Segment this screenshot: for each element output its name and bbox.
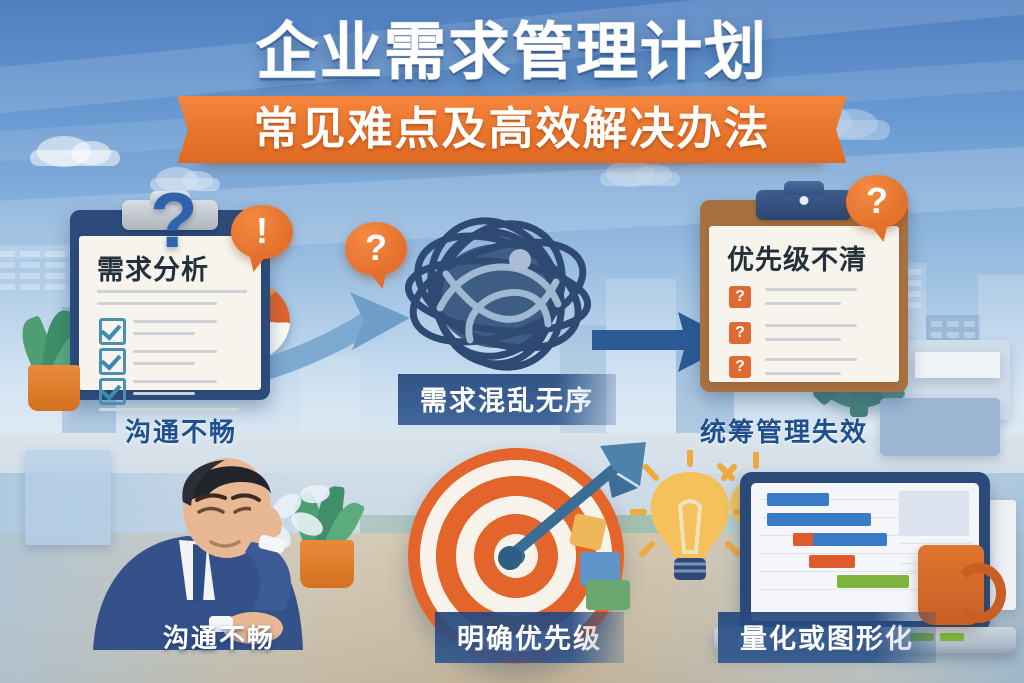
gantt-bar-orange (809, 555, 855, 568)
gantt-bar-blue (767, 513, 871, 526)
gantt-bar-blue (813, 533, 887, 546)
checkbox-icon[interactable] (99, 348, 126, 375)
caption-clarify-priority: 明确优先级 (435, 612, 624, 663)
potted-plant-icon (300, 540, 354, 588)
printer-icon (880, 398, 1000, 456)
caption-tangled-requirements: 需求混乱无序 (398, 374, 616, 425)
exclamation-bubble-icon: ! (231, 205, 293, 259)
caption-visual-tooling: 量化或图形化 (718, 612, 936, 663)
gantt-bar-green (837, 575, 909, 588)
tangled-threads-icon (398, 212, 598, 372)
page-subtitle: 常见难点及高效解决办法 (253, 105, 770, 152)
poster-header: 企业需求管理计划 常见难点及高效解决办法 (0, 22, 1024, 163)
clipboard-clamp-icon (756, 190, 852, 220)
infographic-poster: 企业需求管理计划 常见难点及高效解决办法 ? 需求分析 (0, 0, 1024, 683)
caption-communication-bottom: 沟通不畅 (163, 618, 275, 655)
question-bubble-icon: ? (345, 222, 407, 276)
question-box-icon[interactable]: ? (729, 356, 751, 378)
question-bubble-icon: ? (846, 175, 908, 229)
clipboard-paper: 优先级不清 ? ? ? (709, 226, 899, 382)
question-mark-large-icon: ? (150, 175, 198, 266)
question-box-icon[interactable]: ? (729, 322, 751, 344)
filing-cabinet-drawer (915, 352, 1000, 378)
gantt-bar-blue (767, 493, 829, 506)
clipboard-title: 优先级不清 (727, 238, 867, 277)
filing-cabinet (905, 340, 1010, 420)
question-box-icon[interactable]: ? (729, 286, 751, 308)
checkbox-icon[interactable] (99, 318, 126, 345)
caption-management-failure: 统筹管理失效 (700, 412, 868, 449)
arrow-dart-icon (480, 440, 660, 580)
potted-plant-icon (28, 365, 80, 411)
checkbox-icon[interactable] (99, 378, 126, 405)
cube-icon-green (586, 580, 630, 610)
caption-communication-top: 沟通不畅 (125, 412, 237, 449)
subtitle-ribbon: 常见难点及高效解决办法 (201, 96, 822, 163)
cloud-icon (600, 172, 680, 186)
page-title: 企业需求管理计划 (0, 22, 1024, 84)
